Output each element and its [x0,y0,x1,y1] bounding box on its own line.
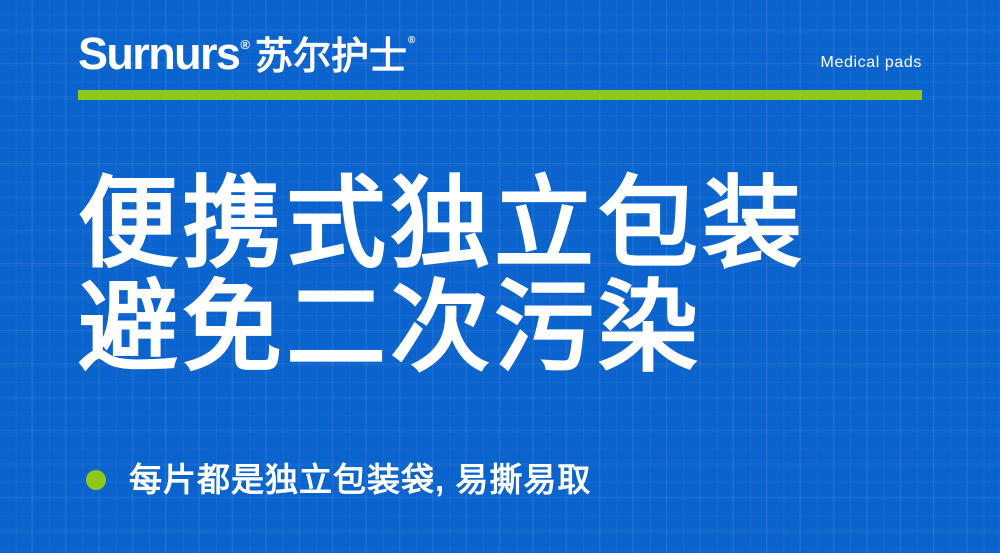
brand-name-chinese: 苏尔护士 [255,38,407,76]
brand-name-latin: Surnurs [78,31,239,76]
header-tagline: Medical pads [821,54,922,72]
headline-block: 便携式独立包装 避免二次污染 [78,172,938,380]
headline-line-1: 便携式独立包装 [78,172,938,276]
feature-bullet-text: 每片都是独立包装袋, 易撕易取 [129,462,591,498]
brand-logo: Surnurs ® 苏尔护士 ® [78,31,414,76]
registered-trademark-icon: ® [240,38,250,51]
registered-trademark-chinese-icon: ® [408,36,415,46]
accent-divider [78,90,922,100]
feature-bullet-row: 每片都是独立包装袋, 易撕易取 [86,462,591,498]
banner-header: Surnurs ® 苏尔护士 ® Medical pads [78,24,922,82]
headline-line-2: 避免二次污染 [78,276,938,380]
bullet-dot-icon [86,470,106,490]
promo-banner: Surnurs ® 苏尔护士 ® Medical pads 便携式独立包装 避免… [0,0,1000,553]
